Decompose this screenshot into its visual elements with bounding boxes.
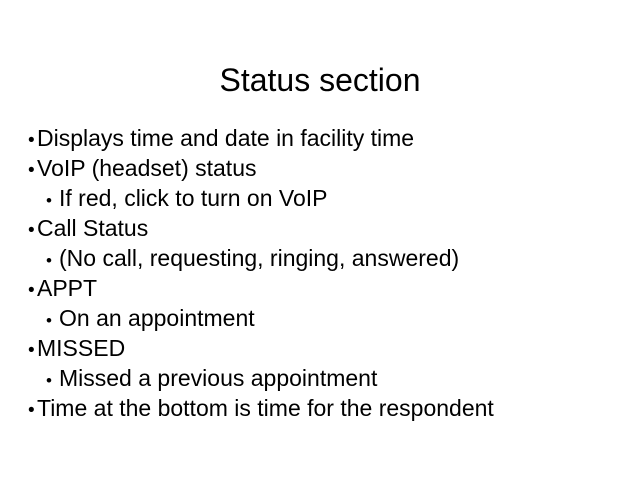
bullet-icon: • bbox=[28, 156, 37, 186]
list-item-label: MISSED bbox=[37, 333, 125, 363]
list-item: •(No call, requesting, ringing, answered… bbox=[28, 243, 628, 273]
bullet-list: •Displays time and date in facility time… bbox=[28, 123, 628, 423]
list-item: •On an appointment bbox=[28, 303, 628, 333]
list-item: •APPT bbox=[28, 273, 628, 303]
list-item: •Time at the bottom is time for the resp… bbox=[28, 393, 628, 423]
list-item-label: VoIP (headset) status bbox=[37, 153, 257, 183]
list-item-label: Call Status bbox=[37, 213, 148, 243]
list-item: •If red, click to turn on VoIP bbox=[28, 183, 628, 213]
list-item: •Call Status bbox=[28, 213, 628, 243]
list-item-label: Time at the bottom is time for the respo… bbox=[37, 393, 494, 423]
list-item-label: (No call, requesting, ringing, answered) bbox=[59, 243, 459, 273]
bullet-icon: • bbox=[46, 306, 59, 336]
list-item-label: On an appointment bbox=[59, 303, 255, 333]
list-item: •MISSED bbox=[28, 333, 628, 363]
bullet-icon: • bbox=[46, 366, 59, 396]
bullet-icon: • bbox=[28, 276, 37, 306]
bullet-icon: • bbox=[28, 126, 37, 156]
bullet-icon: • bbox=[28, 396, 37, 426]
bullet-icon: • bbox=[28, 216, 37, 246]
list-item: •Displays time and date in facility time bbox=[28, 123, 628, 153]
bullet-icon: • bbox=[46, 246, 59, 276]
bullet-icon: • bbox=[28, 336, 37, 366]
list-item-label: APPT bbox=[37, 273, 97, 303]
list-item: •VoIP (headset) status bbox=[28, 153, 628, 183]
page-title: Status section bbox=[0, 61, 640, 99]
presentation-slide: Status section •Displays time and date i… bbox=[0, 0, 640, 480]
list-item-label: Displays time and date in facility time bbox=[37, 123, 414, 153]
list-item-label: Missed a previous appointment bbox=[59, 363, 377, 393]
bullet-icon: • bbox=[46, 186, 59, 216]
list-item-label: If red, click to turn on VoIP bbox=[59, 183, 327, 213]
list-item: •Missed a previous appointment bbox=[28, 363, 628, 393]
